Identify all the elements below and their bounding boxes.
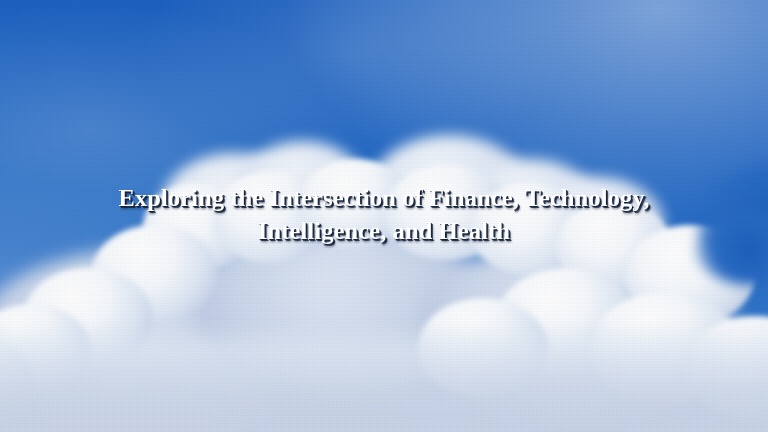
- headline-container: Exploring the Intersection of Finance, T…: [0, 182, 768, 248]
- cloud-base: [0, 322, 768, 432]
- hero-banner: Exploring the Intersection of Finance, T…: [0, 0, 768, 432]
- page-title: Exploring the Intersection of Finance, T…: [64, 182, 704, 248]
